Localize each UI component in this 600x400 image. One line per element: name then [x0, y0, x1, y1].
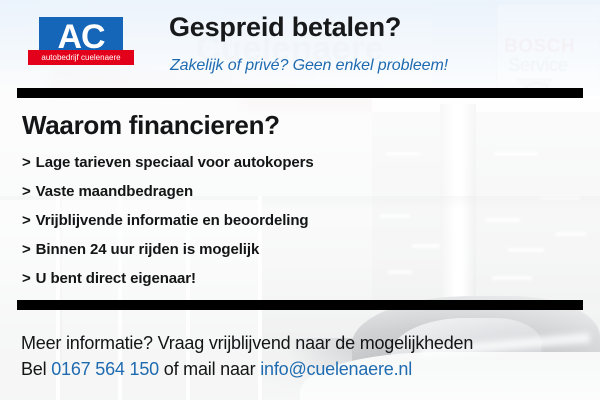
divider-top — [17, 88, 583, 98]
logo-mark-text: AC — [57, 20, 104, 54]
logo-tagline-text: autobedrijf cuelenaere — [41, 54, 120, 62]
footer-invite-text: Meer informatie? Vraag vrijblijvend naar… — [21, 330, 473, 356]
list-item: >Vrijblijvende informatie en beoordeling — [22, 206, 442, 235]
list-item: >Vaste maandbedragen — [22, 177, 442, 206]
footer: Meer informatie? Vraag vrijblijvend naar… — [21, 330, 473, 382]
list-item-label: Vaste maandbedragen — [36, 183, 193, 200]
banner-content: AC autobedrijf cuelenaere Gespreid betal… — [0, 0, 600, 400]
phone-link[interactable]: 0167 564 150 — [51, 359, 159, 379]
subheadline: Zakelijk of privé? Geen enkel probleem! — [170, 56, 448, 75]
financing-banner: BOSCH Service Cuelenaere — [0, 0, 600, 400]
list-item-label: U bent direct eigenaar! — [36, 270, 196, 287]
list-item: >U bent direct eigenaar! — [22, 264, 442, 293]
list-item: >Lage tarieven speciaal voor autokopers — [22, 148, 442, 177]
footer-contact-line: Bel 0167 564 150 of mail naar info@cuele… — [21, 356, 473, 382]
list-item: >Binnen 24 uur rijden is mogelijk — [22, 235, 442, 264]
list-item-label: Vrijblijvende informatie en beoordeling — [36, 212, 309, 229]
bullet-marker-icon: > — [22, 183, 31, 200]
logo[interactable]: AC autobedrijf cuelenaere — [39, 17, 123, 57]
divider-bottom — [17, 300, 583, 310]
bullet-marker-icon: > — [22, 270, 31, 287]
benefits-list: >Lage tarieven speciaal voor autokopers … — [22, 148, 442, 293]
list-item-label: Binnen 24 uur rijden is mogelijk — [36, 241, 260, 258]
footer-mail-label: of mail naar — [164, 359, 256, 379]
headline: Gespreid betalen? — [169, 12, 401, 43]
logo-tagline-bar: autobedrijf cuelenaere — [28, 50, 134, 65]
email-link[interactable]: info@cuelenaere.nl — [260, 359, 412, 379]
list-item-label: Lage tarieven speciaal voor autokopers — [36, 154, 314, 171]
bullet-marker-icon: > — [22, 241, 31, 258]
bullet-marker-icon: > — [22, 212, 31, 229]
footer-call-label: Bel — [21, 359, 46, 379]
section-title: Waarom financieren? — [22, 110, 280, 140]
bullet-marker-icon: > — [22, 154, 31, 171]
